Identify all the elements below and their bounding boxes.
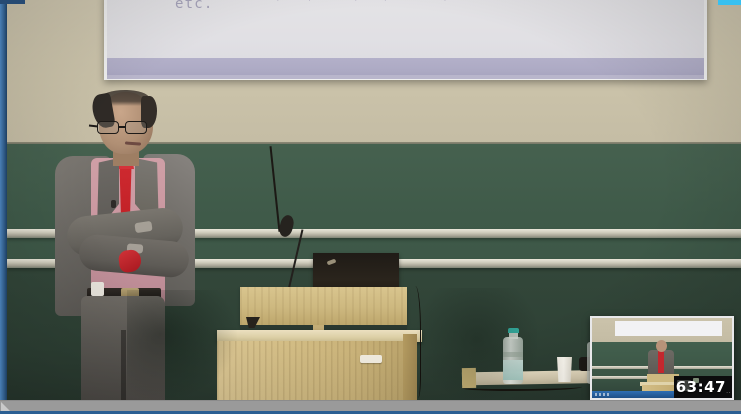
pip-elapsed-time: 63:47 [676,378,726,396]
glasses-temple [89,125,98,128]
accent-highlight-chip [718,0,741,5]
pip-timer-trailing: .. [726,388,731,395]
video-player-window: a variety of p t fo p iag r nd argum etc… [0,0,741,414]
slide-footer-band [107,58,704,76]
pip-presenter-tie [658,351,664,373]
pip-seek-markers [595,393,609,396]
projection-screen: a variety of p t fo p iag r nd argum etc… [104,0,707,80]
eyeglasses-icon [95,121,157,134]
shadow-left [127,290,237,400]
presenter-remote [360,355,382,363]
laptop-screen [313,253,399,291]
pip-overview-camera[interactable]: 63:47 .. [590,316,734,400]
screen-bottom-lip [107,75,704,79]
lectern-body-grain [217,341,413,400]
lens-right [125,121,147,134]
lens-left [97,121,119,134]
presenter-leg-seam [121,330,126,400]
shadow-right [417,288,537,400]
presenter-pocket-item [91,282,104,296]
slide-text-line-truncated: a variety of p t fo p iag r nd argum [222,0,672,1]
window-top-left-chip [0,0,25,4]
slide-surface: a variety of p t fo p iag r nd argum etc… [107,0,704,58]
pip-projection-screen [615,321,722,336]
slide-text-etc: etc. [175,0,214,12]
glasses-bridge [119,126,125,128]
pip-timer-panel[interactable]: 63:47 .. [674,376,732,398]
pip-presenter-head [656,340,667,352]
paper-cup [556,357,573,382]
lectern-panel-grain [240,287,407,325]
clip-microphone-icon [111,200,116,208]
left-scroll-edge[interactable] [0,0,7,414]
